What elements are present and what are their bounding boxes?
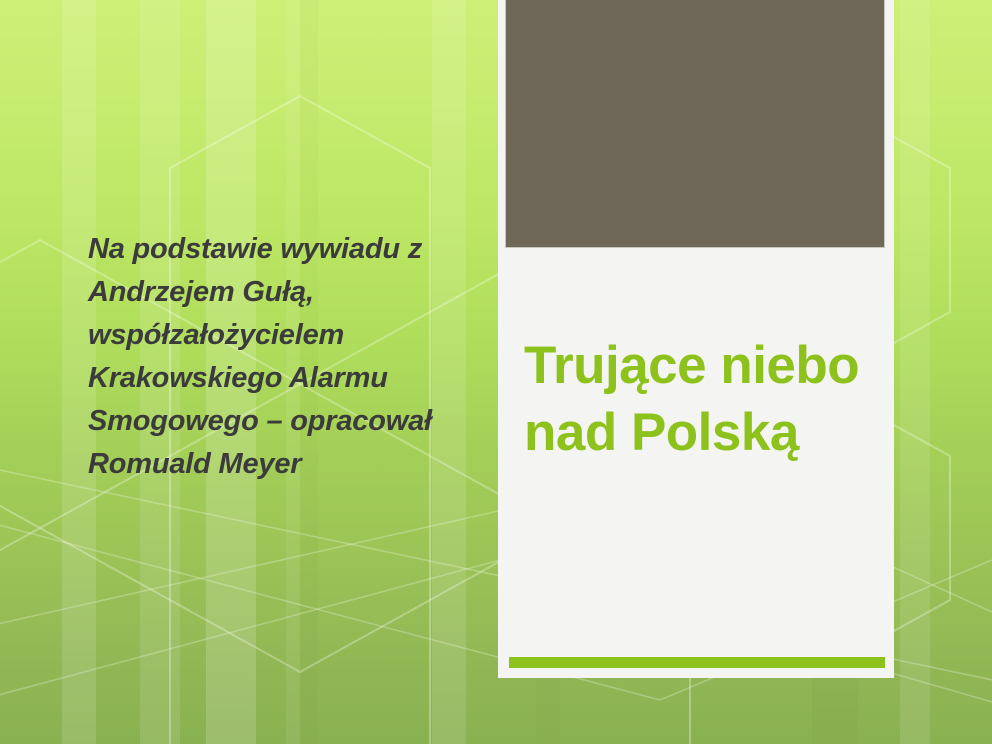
title-card: Trujące niebo nad Polską: [498, 0, 894, 678]
slide-subtitle: Na podstawie wywiadu z Andrzejem Gułą, w…: [88, 228, 488, 486]
presentation-slide: Na podstawie wywiadu z Andrzejem Gułą, w…: [0, 0, 992, 744]
title-photo-placeholder: [505, 0, 885, 248]
title-accent-bar: [509, 657, 885, 668]
slide-title: Trujące niebo nad Polską: [524, 332, 874, 466]
